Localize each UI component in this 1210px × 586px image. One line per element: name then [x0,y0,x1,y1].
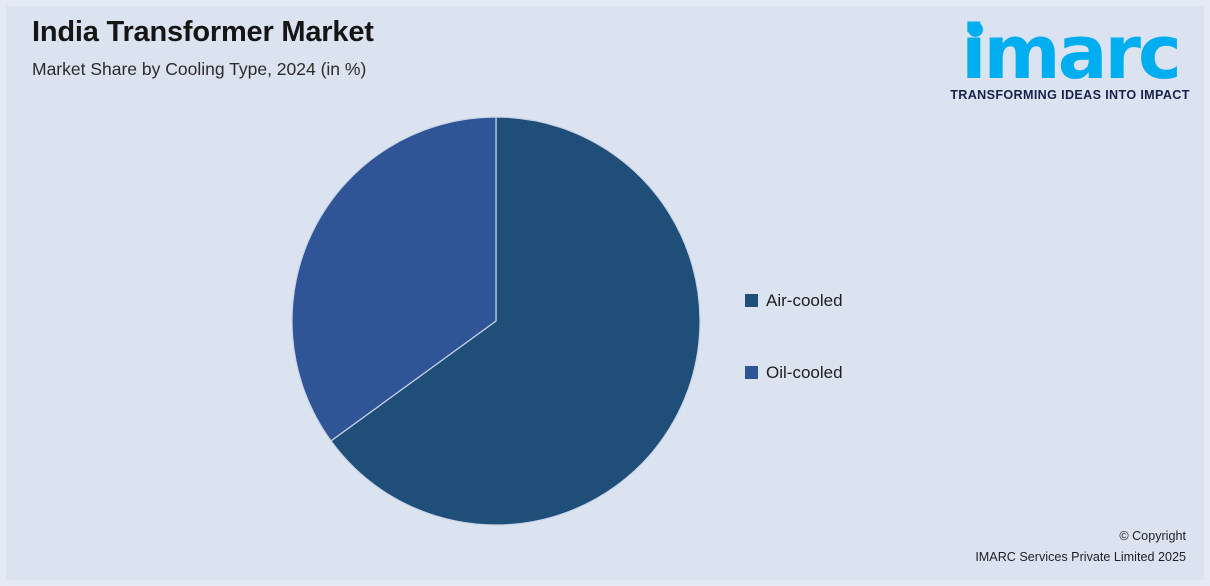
pie-chart-svg [291,116,701,526]
chart-legend: Air-cooled Oil-cooled [745,289,843,433]
legend-swatch-icon-air-cooled [745,294,758,307]
pie-chart [291,116,701,526]
logo-mark: imarc [950,14,1190,92]
pie-slice-group [292,117,700,525]
copyright-line-2: IMARC Services Private Limited 2025 [975,547,1186,568]
imarc-logo: imarc TRANSFORMING IDEAS INTO IMPACT [950,14,1190,102]
legend-label-air-cooled: Air-cooled [766,292,843,309]
legend-item-air-cooled[interactable]: Air-cooled [745,289,843,311]
legend-swatch-icon-oil-cooled [745,366,758,379]
chart-header: India Transformer Market Market Share by… [32,14,732,81]
logo-dot-icon [968,22,983,37]
legend-item-oil-cooled[interactable]: Oil-cooled [745,361,843,383]
legend-label-oil-cooled: Oil-cooled [766,364,843,381]
copyright-line-1: © Copyright [975,526,1186,547]
chart-canvas: India Transformer Market Market Share by… [0,0,1210,586]
page-title: India Transformer Market [32,14,732,50]
logo-wordmark: imarc [950,14,1190,92]
chart-subtitle: Market Share by Cooling Type, 2024 (in %… [32,58,732,81]
copyright-block: © Copyright IMARC Services Private Limit… [975,526,1186,568]
